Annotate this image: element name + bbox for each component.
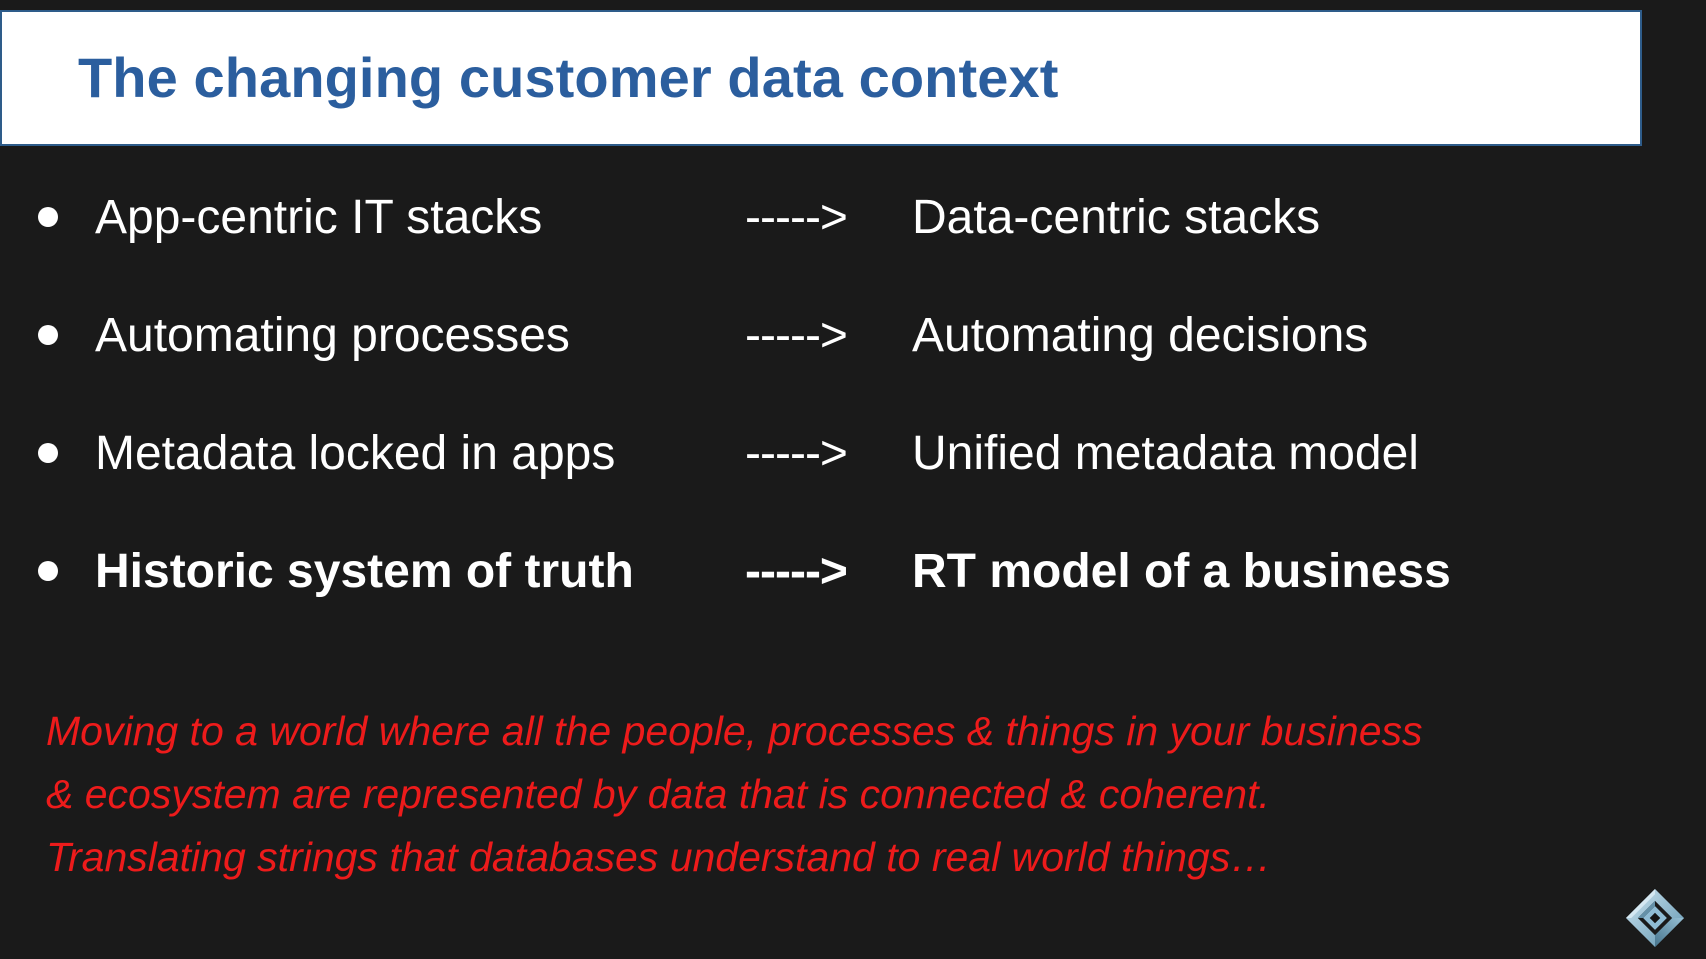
slide-canvas: The changing customer data context App-c… — [0, 0, 1706, 959]
arrow-icon: -----> — [745, 544, 847, 599]
bullet-left-text: Metadata locked in apps — [95, 426, 615, 481]
bullet-row: App-centric IT stacks -----> Data-centri… — [0, 158, 1706, 276]
note-line: Moving to a world where all the people, … — [46, 700, 1646, 763]
note-line: & ecosystem are represented by data that… — [46, 763, 1646, 826]
arrow-icon: -----> — [745, 190, 847, 245]
bullet-right-text: Data-centric stacks — [912, 190, 1320, 245]
bullet-right-text: Automating decisions — [912, 308, 1368, 363]
bullet-row: Automating processes -----> Automating d… — [0, 276, 1706, 394]
bullet-dot-icon — [38, 561, 58, 581]
page-title: The changing customer data context — [78, 49, 1058, 108]
arrow-icon: -----> — [745, 308, 847, 363]
bullet-dot-icon — [38, 207, 58, 227]
bullet-left-text: Automating processes — [95, 308, 570, 363]
bullet-dot-icon — [38, 325, 58, 345]
bullet-left-text: App-centric IT stacks — [95, 190, 542, 245]
slide-title-bar: The changing customer data context — [0, 10, 1642, 146]
bullet-right-text: Unified metadata model — [912, 426, 1419, 481]
bullet-dot-icon — [38, 443, 58, 463]
note-block: Moving to a world where all the people, … — [46, 700, 1646, 889]
note-line: Translating strings that databases under… — [46, 826, 1646, 889]
arrow-icon: -----> — [745, 426, 847, 481]
bullet-right-text: RT model of a business — [912, 544, 1451, 599]
bullet-row: Metadata locked in apps -----> Unified m… — [0, 394, 1706, 512]
interlocking-diamond-logo — [1622, 885, 1688, 951]
bullet-left-text: Historic system of truth — [95, 544, 634, 599]
bullet-row: Historic system of truth -----> RT model… — [0, 512, 1706, 630]
bullet-list: App-centric IT stacks -----> Data-centri… — [0, 158, 1706, 630]
